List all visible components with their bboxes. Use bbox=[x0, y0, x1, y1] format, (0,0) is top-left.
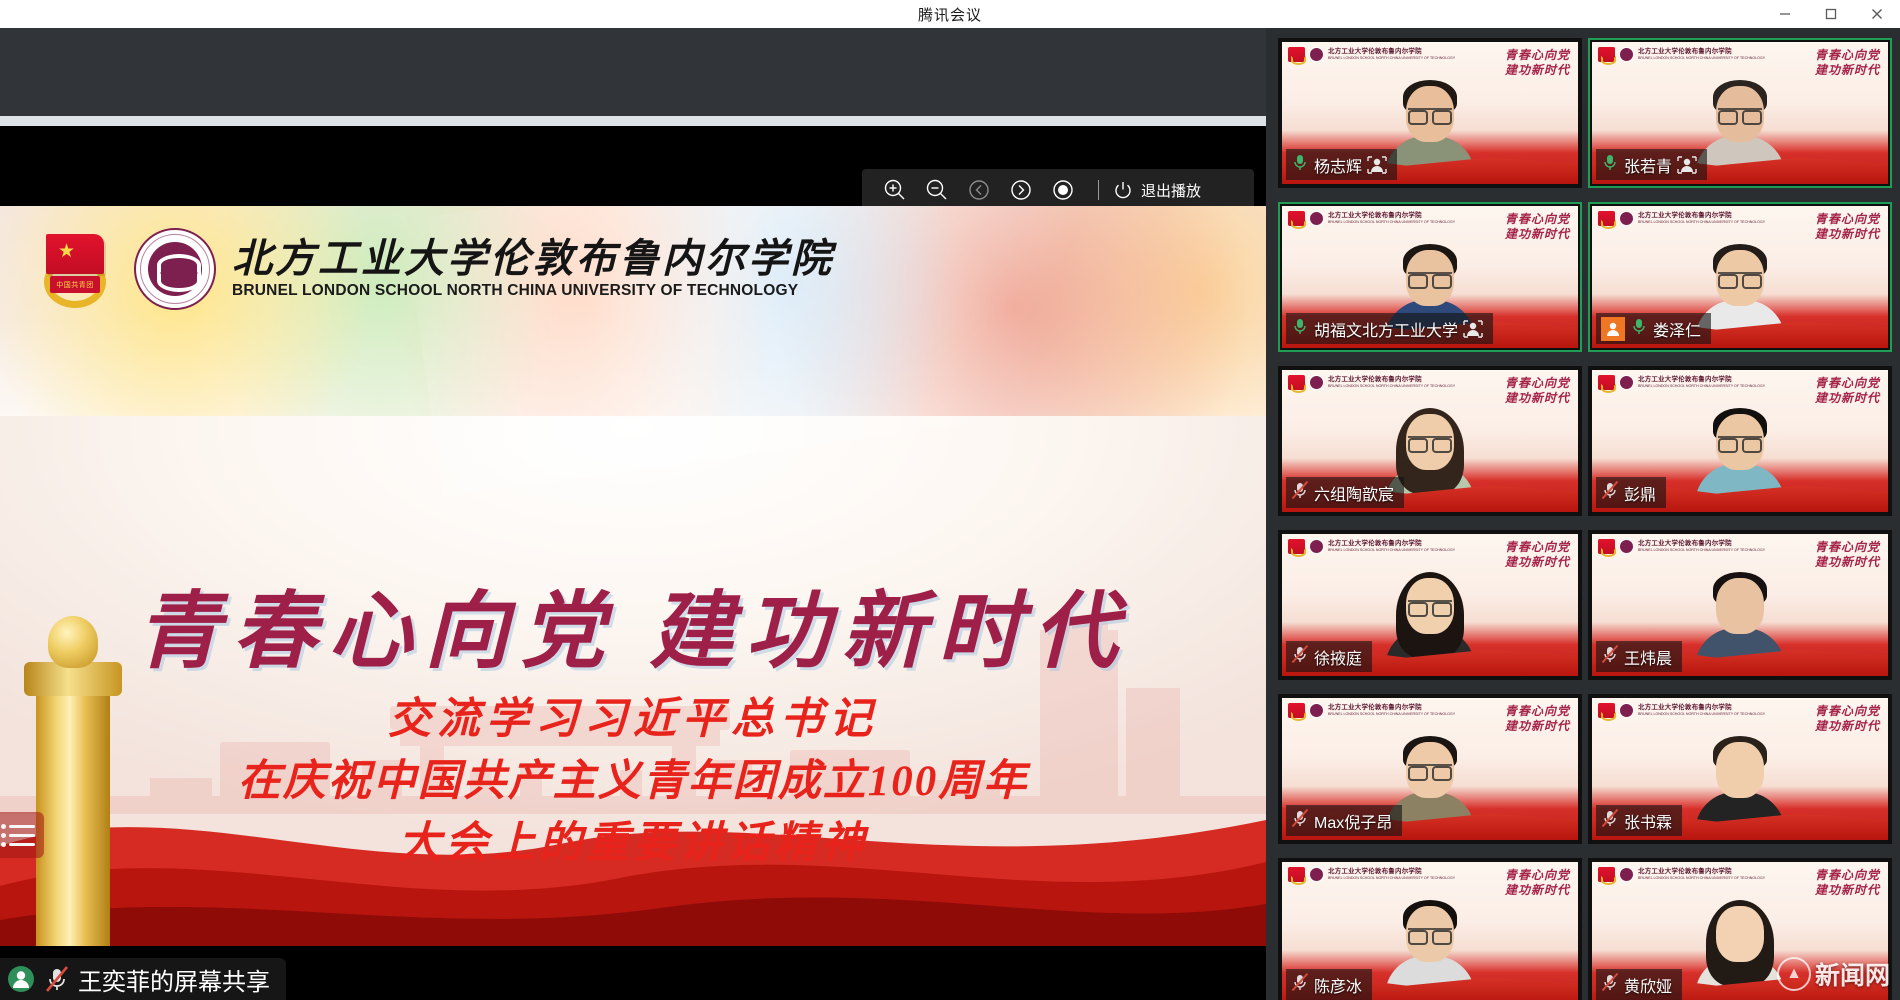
virtual-background-logo: 北方工业大学伦敦布鲁内尔学院BRUNEL LONDON SCHOOL NORTH… bbox=[1288, 867, 1455, 882]
participant-name-badge: 王炜晨 bbox=[1596, 641, 1682, 672]
participant-video-feed: 北方工业大学伦敦布鲁内尔学院BRUNEL LONDON SCHOOL NORTH… bbox=[1282, 370, 1578, 512]
university-seal-icon bbox=[1309, 47, 1324, 62]
participant-tile[interactable]: 北方工业大学伦敦布鲁内尔学院BRUNEL LONDON SCHOOL NORTH… bbox=[1588, 202, 1892, 352]
participant-video-feed: 北方工业大学伦敦布鲁内尔学院BRUNEL LONDON SCHOOL NORTH… bbox=[1592, 370, 1888, 512]
microphone-muted-icon bbox=[1601, 480, 1619, 505]
screen-share-status-bar: 王奕菲的屏幕共享 bbox=[0, 958, 286, 1000]
virtual-background-logo: 北方工业大学伦敦布鲁内尔学院BRUNEL LONDON SCHOOL NORTH… bbox=[1598, 867, 1765, 882]
microphone-muted-icon bbox=[1601, 808, 1619, 833]
participant-name-label: 陈彦冰 bbox=[1314, 973, 1362, 997]
slide-header: ★ 中国共青团 北方工业大学伦敦布鲁内尔学院 BRUNEL LONDON SCH… bbox=[32, 226, 834, 312]
participant-tile[interactable]: 北方工业大学伦敦布鲁内尔学院BRUNEL LONDON SCHOOL NORTH… bbox=[1278, 366, 1582, 516]
next-slide-icon[interactable] bbox=[1000, 169, 1042, 211]
university-seal-icon bbox=[1309, 375, 1324, 390]
eyeglasses bbox=[1408, 928, 1452, 940]
virtual-background-slogan: 青春心向党建功新时代 bbox=[1505, 704, 1570, 734]
participant-name-badge: 陈彦冰 bbox=[1286, 969, 1372, 1000]
participant-name-badge: Max倪子昂 bbox=[1286, 805, 1402, 836]
zoom-out-icon[interactable] bbox=[916, 169, 958, 211]
eyeglasses bbox=[1408, 436, 1452, 448]
virtual-background-logo: 北方工业大学伦敦布鲁内尔学院BRUNEL LONDON SCHOOL NORTH… bbox=[1288, 703, 1455, 718]
participant-tile[interactable]: 北方工业大学伦敦布鲁内尔学院BRUNEL LONDON SCHOOL NORTH… bbox=[1278, 38, 1582, 188]
screen-share-owner-label: 王奕菲的屏幕共享 bbox=[78, 962, 270, 997]
virtual-background-school-name: 北方工业大学伦敦布鲁内尔学院BRUNEL LONDON SCHOOL NORTH… bbox=[1328, 376, 1455, 389]
virtual-background-school-name: 北方工业大学伦敦布鲁内尔学院BRUNEL LONDON SCHOOL NORTH… bbox=[1328, 704, 1455, 717]
participant-video-feed: 北方工业大学伦敦布鲁内尔学院BRUNEL LONDON SCHOOL NORTH… bbox=[1282, 206, 1578, 348]
slide-subtitle-line-1: 交流学习习近平总书记 bbox=[0, 684, 1266, 746]
eyeglasses bbox=[1408, 600, 1452, 612]
university-seal-icon bbox=[1619, 47, 1634, 62]
virtual-background-logo: 北方工业大学伦敦布鲁内尔学院BRUNEL LONDON SCHOOL NORTH… bbox=[1598, 539, 1765, 554]
virtual-background-slogan: 青春心向党建功新时代 bbox=[1505, 212, 1570, 242]
virtual-background-logo: 北方工业大学伦敦布鲁内尔学院BRUNEL LONDON SCHOOL NORTH… bbox=[1288, 539, 1455, 554]
participant-name-badge: 娄泽仁 bbox=[1596, 313, 1711, 344]
virtual-background-school-name: 北方工业大学伦敦布鲁内尔学院BRUNEL LONDON SCHOOL NORTH… bbox=[1328, 540, 1455, 553]
virtual-background-slogan: 青春心向党建功新时代 bbox=[1505, 540, 1570, 570]
shared-screen-region: 退出播放 bbox=[0, 28, 1266, 1000]
participant-name-label: 黄欣娅 bbox=[1624, 973, 1672, 997]
record-icon[interactable] bbox=[1042, 169, 1084, 211]
university-seal-icon bbox=[1619, 211, 1634, 226]
participant-name-label: 娄泽仁 bbox=[1653, 317, 1701, 341]
slide-menu-button[interactable] bbox=[0, 812, 44, 858]
microphone-muted-icon bbox=[1291, 644, 1309, 669]
virtual-background-school-name: 北方工业大学伦敦布鲁内尔学院BRUNEL LONDON SCHOOL NORTH… bbox=[1638, 376, 1765, 389]
participant-video-feed: 北方工业大学伦敦布鲁内尔学院BRUNEL LONDON SCHOOL NORTH… bbox=[1282, 862, 1578, 1000]
virtual-background-school-name: 北方工业大学伦敦布鲁内尔学院BRUNEL LONDON SCHOOL NORTH… bbox=[1638, 868, 1765, 881]
virtual-background-slogan: 青春心向党建功新时代 bbox=[1815, 704, 1880, 734]
slide-main-title: 青春心向党 建功新时代 bbox=[0, 564, 1266, 685]
virtual-background-school-name: 北方工业大学伦敦布鲁内尔学院BRUNEL LONDON SCHOOL NORTH… bbox=[1638, 704, 1765, 717]
participant-name-badge: 徐掖庭 bbox=[1286, 641, 1372, 672]
participant-name-label: 彭鼎 bbox=[1624, 481, 1656, 505]
participant-name-label: 杨志辉 bbox=[1314, 153, 1362, 177]
virtual-background-logo: 北方工业大学伦敦布鲁内尔学院BRUNEL LONDON SCHOOL NORTH… bbox=[1598, 211, 1765, 226]
host-avatar-icon bbox=[1601, 317, 1625, 341]
participant-tile[interactable]: 北方工业大学伦敦布鲁内尔学院BRUNEL LONDON SCHOOL NORTH… bbox=[1278, 858, 1582, 1000]
league-flag-icon bbox=[1288, 211, 1305, 226]
window-controls bbox=[1762, 0, 1900, 28]
university-seal-icon bbox=[1619, 375, 1634, 390]
school-name-block: 北方工业大学伦敦布鲁内尔学院 BRUNEL LONDON SCHOOL NORT… bbox=[232, 238, 834, 300]
participant-video-feed: 北方工业大学伦敦布鲁内尔学院BRUNEL LONDON SCHOOL NORTH… bbox=[1592, 42, 1888, 184]
league-flag-icon bbox=[1598, 867, 1615, 882]
microphone-on-icon bbox=[1601, 152, 1619, 177]
microphone-on-icon bbox=[1291, 152, 1309, 177]
participant-name-label: 张若青 bbox=[1624, 153, 1672, 177]
communist-youth-league-emblem-icon: ★ 中国共青团 bbox=[32, 226, 118, 312]
eyeglasses bbox=[1718, 436, 1762, 448]
virtual-background-school-name: 北方工业大学伦敦布鲁内尔学院BRUNEL LONDON SCHOOL NORTH… bbox=[1328, 48, 1455, 61]
university-seal-icon bbox=[1309, 867, 1324, 882]
participant-name-badge: 张若青 bbox=[1596, 149, 1707, 180]
league-flag-icon bbox=[1288, 47, 1305, 62]
participant-video-feed: 北方工业大学伦敦布鲁内尔学院BRUNEL LONDON SCHOOL NORTH… bbox=[1592, 698, 1888, 840]
eyeglasses bbox=[1408, 108, 1452, 120]
minimize-button[interactable] bbox=[1762, 0, 1808, 28]
league-flag-icon bbox=[1288, 703, 1305, 718]
previous-slide-icon[interactable] bbox=[958, 169, 1000, 211]
meeting-body: 退出播放 bbox=[0, 28, 1900, 1000]
virtual-background-slogan: 青春心向党建功新时代 bbox=[1505, 48, 1570, 78]
virtual-background-school-name: 北方工业大学伦敦布鲁内尔学院BRUNEL LONDON SCHOOL NORTH… bbox=[1328, 868, 1455, 881]
virtual-background-slogan: 青春心向党建功新时代 bbox=[1815, 212, 1880, 242]
participant-video-feed: 北方工业大学伦敦布鲁内尔学院BRUNEL LONDON SCHOOL NORTH… bbox=[1592, 206, 1888, 348]
microphone-muted-icon bbox=[1601, 644, 1619, 669]
virtual-background-logo: 北方工业大学伦敦布鲁内尔学院BRUNEL LONDON SCHOOL NORTH… bbox=[1288, 47, 1455, 62]
participant-video-feed: 北方工业大学伦敦布鲁内尔学院BRUNEL LONDON SCHOOL NORTH… bbox=[1282, 698, 1578, 840]
microphone-muted-icon bbox=[1291, 972, 1309, 997]
participant-tile[interactable]: 北方工业大学伦敦布鲁内尔学院BRUNEL LONDON SCHOOL NORTH… bbox=[1278, 202, 1582, 352]
university-seal-icon bbox=[1619, 867, 1634, 882]
virtual-background-logo: 北方工业大学伦敦布鲁内尔学院BRUNEL LONDON SCHOOL NORTH… bbox=[1288, 211, 1455, 226]
participant-name-label: 胡福文北方工业大学 bbox=[1314, 317, 1458, 341]
participant-video-feed: 北方工业大学伦敦布鲁内尔学院BRUNEL LONDON SCHOOL NORTH… bbox=[1592, 862, 1888, 1000]
participant-name-label: 徐掖庭 bbox=[1314, 645, 1362, 669]
slide-subtitle-line-3: 大会上的重要讲话精神 bbox=[0, 808, 1266, 870]
participant-tile[interactable]: 北方工业大学伦敦布鲁内尔学院BRUNEL LONDON SCHOOL NORTH… bbox=[1588, 694, 1892, 844]
participant-name-badge: 彭鼎 bbox=[1596, 477, 1666, 508]
microphone-muted-icon bbox=[1291, 480, 1309, 505]
window-titlebar: 腾讯会议 bbox=[0, 0, 1900, 28]
participant-tile[interactable]: 北方工业大学伦敦布鲁内尔学院BRUNEL LONDON SCHOOL NORTH… bbox=[1278, 530, 1582, 680]
league-flag-icon bbox=[1598, 539, 1615, 554]
university-seal-icon bbox=[1309, 539, 1324, 554]
league-flag-icon bbox=[1598, 703, 1615, 718]
participant-avatar-icon bbox=[1677, 156, 1697, 174]
virtual-background-slogan: 青春心向党建功新时代 bbox=[1505, 868, 1570, 898]
eyeglasses bbox=[1408, 764, 1452, 776]
participant-tile[interactable]: 北方工业大学伦敦布鲁内尔学院BRUNEL LONDON SCHOOL NORTH… bbox=[1588, 858, 1892, 1000]
virtual-background-school-name: 北方工业大学伦敦布鲁内尔学院BRUNEL LONDON SCHOOL NORTH… bbox=[1638, 212, 1765, 225]
maximize-button[interactable] bbox=[1808, 0, 1854, 28]
power-icon bbox=[1113, 180, 1133, 200]
school-name-en: BRUNEL LONDON SCHOOL NORTH CHINA UNIVERS… bbox=[232, 282, 834, 300]
virtual-background-school-name: 北方工业大学伦敦布鲁内尔学院BRUNEL LONDON SCHOOL NORTH… bbox=[1638, 48, 1765, 61]
university-seal-icon bbox=[1309, 211, 1324, 226]
participant-tile[interactable]: 北方工业大学伦敦布鲁内尔学院BRUNEL LONDON SCHOOL NORTH… bbox=[1278, 694, 1582, 844]
window-title: 腾讯会议 bbox=[918, 4, 982, 25]
league-flag-icon bbox=[1598, 375, 1615, 390]
league-flag-icon bbox=[1288, 539, 1305, 554]
participant-tile[interactable]: 北方工业大学伦敦布鲁内尔学院BRUNEL LONDON SCHOOL NORTH… bbox=[1588, 366, 1892, 516]
eyeglasses bbox=[1718, 272, 1762, 284]
toolbar-divider bbox=[1098, 180, 1099, 200]
slide-subtitle-line-2: 在庆祝中国共产主义青年团成立100周年 bbox=[0, 746, 1266, 808]
participant-name-badge: 黄欣娅 bbox=[1596, 969, 1682, 1000]
university-seal-icon bbox=[1619, 539, 1634, 554]
close-button[interactable] bbox=[1854, 0, 1900, 28]
virtual-background-slogan: 青春心向党建功新时代 bbox=[1815, 868, 1880, 898]
league-flag-icon bbox=[1288, 375, 1305, 390]
virtual-background-logo: 北方工业大学伦敦布鲁内尔学院BRUNEL LONDON SCHOOL NORTH… bbox=[1288, 375, 1455, 390]
participant-video-rail[interactable]: 北方工业大学伦敦布鲁内尔学院BRUNEL LONDON SCHOOL NORTH… bbox=[1266, 28, 1900, 1000]
presentation-slide: ★ 中国共青团 北方工业大学伦敦布鲁内尔学院 BRUNEL LONDON SCH… bbox=[0, 206, 1266, 946]
participant-tile[interactable]: 北方工业大学伦敦布鲁内尔学院BRUNEL LONDON SCHOOL NORTH… bbox=[1588, 38, 1892, 188]
participant-name-label: 王炜晨 bbox=[1624, 645, 1672, 669]
league-flag-icon bbox=[1598, 47, 1615, 62]
participant-video-feed: 北方工业大学伦敦布鲁内尔学院BRUNEL LONDON SCHOOL NORTH… bbox=[1282, 42, 1578, 184]
shared-app-divider bbox=[0, 116, 1266, 126]
league-flag-icon bbox=[1288, 867, 1305, 882]
microphone-muted-icon bbox=[1601, 972, 1619, 997]
participant-name-badge: 六组陶歆宸 bbox=[1286, 477, 1404, 508]
eyeglasses bbox=[1718, 108, 1762, 120]
league-flag-icon bbox=[1598, 211, 1615, 226]
participant-video-feed: 北方工业大学伦敦布鲁内尔学院BRUNEL LONDON SCHOOL NORTH… bbox=[1282, 534, 1578, 676]
eyeglasses bbox=[1408, 272, 1452, 284]
shared-app-chrome-strip bbox=[0, 28, 1266, 116]
participant-name-label: Max倪子昂 bbox=[1314, 809, 1392, 833]
slideshow-toolbar: 退出播放 bbox=[862, 169, 1254, 211]
virtual-background-logo: 北方工业大学伦敦布鲁内尔学院BRUNEL LONDON SCHOOL NORTH… bbox=[1598, 47, 1765, 62]
emblem-banner-text: 中国共青团 bbox=[50, 276, 100, 293]
participant-name-badge: 胡福文北方工业大学 bbox=[1286, 313, 1493, 344]
participant-name-badge: 杨志辉 bbox=[1286, 149, 1397, 180]
virtual-background-school-name: 北方工业大学伦敦布鲁内尔学院BRUNEL LONDON SCHOOL NORTH… bbox=[1328, 212, 1455, 225]
virtual-background-slogan: 青春心向党建功新时代 bbox=[1815, 540, 1880, 570]
virtual-background-logo: 北方工业大学伦敦布鲁内尔学院BRUNEL LONDON SCHOOL NORTH… bbox=[1598, 703, 1765, 718]
virtual-background-slogan: 青春心向党建功新时代 bbox=[1815, 48, 1880, 78]
zoom-in-icon[interactable] bbox=[874, 169, 916, 211]
exit-playback-button[interactable]: 退出播放 bbox=[1113, 180, 1201, 201]
participant-name-label: 六组陶歆宸 bbox=[1314, 481, 1394, 505]
exit-playback-label: 退出播放 bbox=[1141, 180, 1201, 201]
virtual-background-slogan: 青春心向党建功新时代 bbox=[1815, 376, 1880, 406]
participant-tile[interactable]: 北方工业大学伦敦布鲁内尔学院BRUNEL LONDON SCHOOL NORTH… bbox=[1588, 530, 1892, 680]
participant-name-badge: 张书霖 bbox=[1596, 805, 1682, 836]
virtual-background-school-name: 北方工业大学伦敦布鲁内尔学院BRUNEL LONDON SCHOOL NORTH… bbox=[1638, 540, 1765, 553]
microphone-muted-icon bbox=[44, 964, 70, 994]
school-name-cn: 北方工业大学伦敦布鲁内尔学院 bbox=[232, 238, 834, 280]
participant-name-label: 张书霖 bbox=[1624, 809, 1672, 833]
microphone-on-icon bbox=[1291, 316, 1309, 341]
participant-video-feed: 北方工业大学伦敦布鲁内尔学院BRUNEL LONDON SCHOOL NORTH… bbox=[1592, 534, 1888, 676]
university-seal-icon bbox=[134, 228, 216, 310]
participant-avatar-icon bbox=[1367, 156, 1387, 174]
university-seal-icon bbox=[1619, 703, 1634, 718]
microphone-on-icon bbox=[1630, 316, 1648, 341]
participant-avatar-icon bbox=[1463, 320, 1483, 338]
virtual-background-logo: 北方工业大学伦敦布鲁内尔学院BRUNEL LONDON SCHOOL NORTH… bbox=[1598, 375, 1765, 390]
participant-avatar-icon bbox=[6, 964, 36, 994]
microphone-muted-icon bbox=[1291, 808, 1309, 833]
university-seal-icon bbox=[1309, 703, 1324, 718]
virtual-background-slogan: 青春心向党建功新时代 bbox=[1505, 376, 1570, 406]
